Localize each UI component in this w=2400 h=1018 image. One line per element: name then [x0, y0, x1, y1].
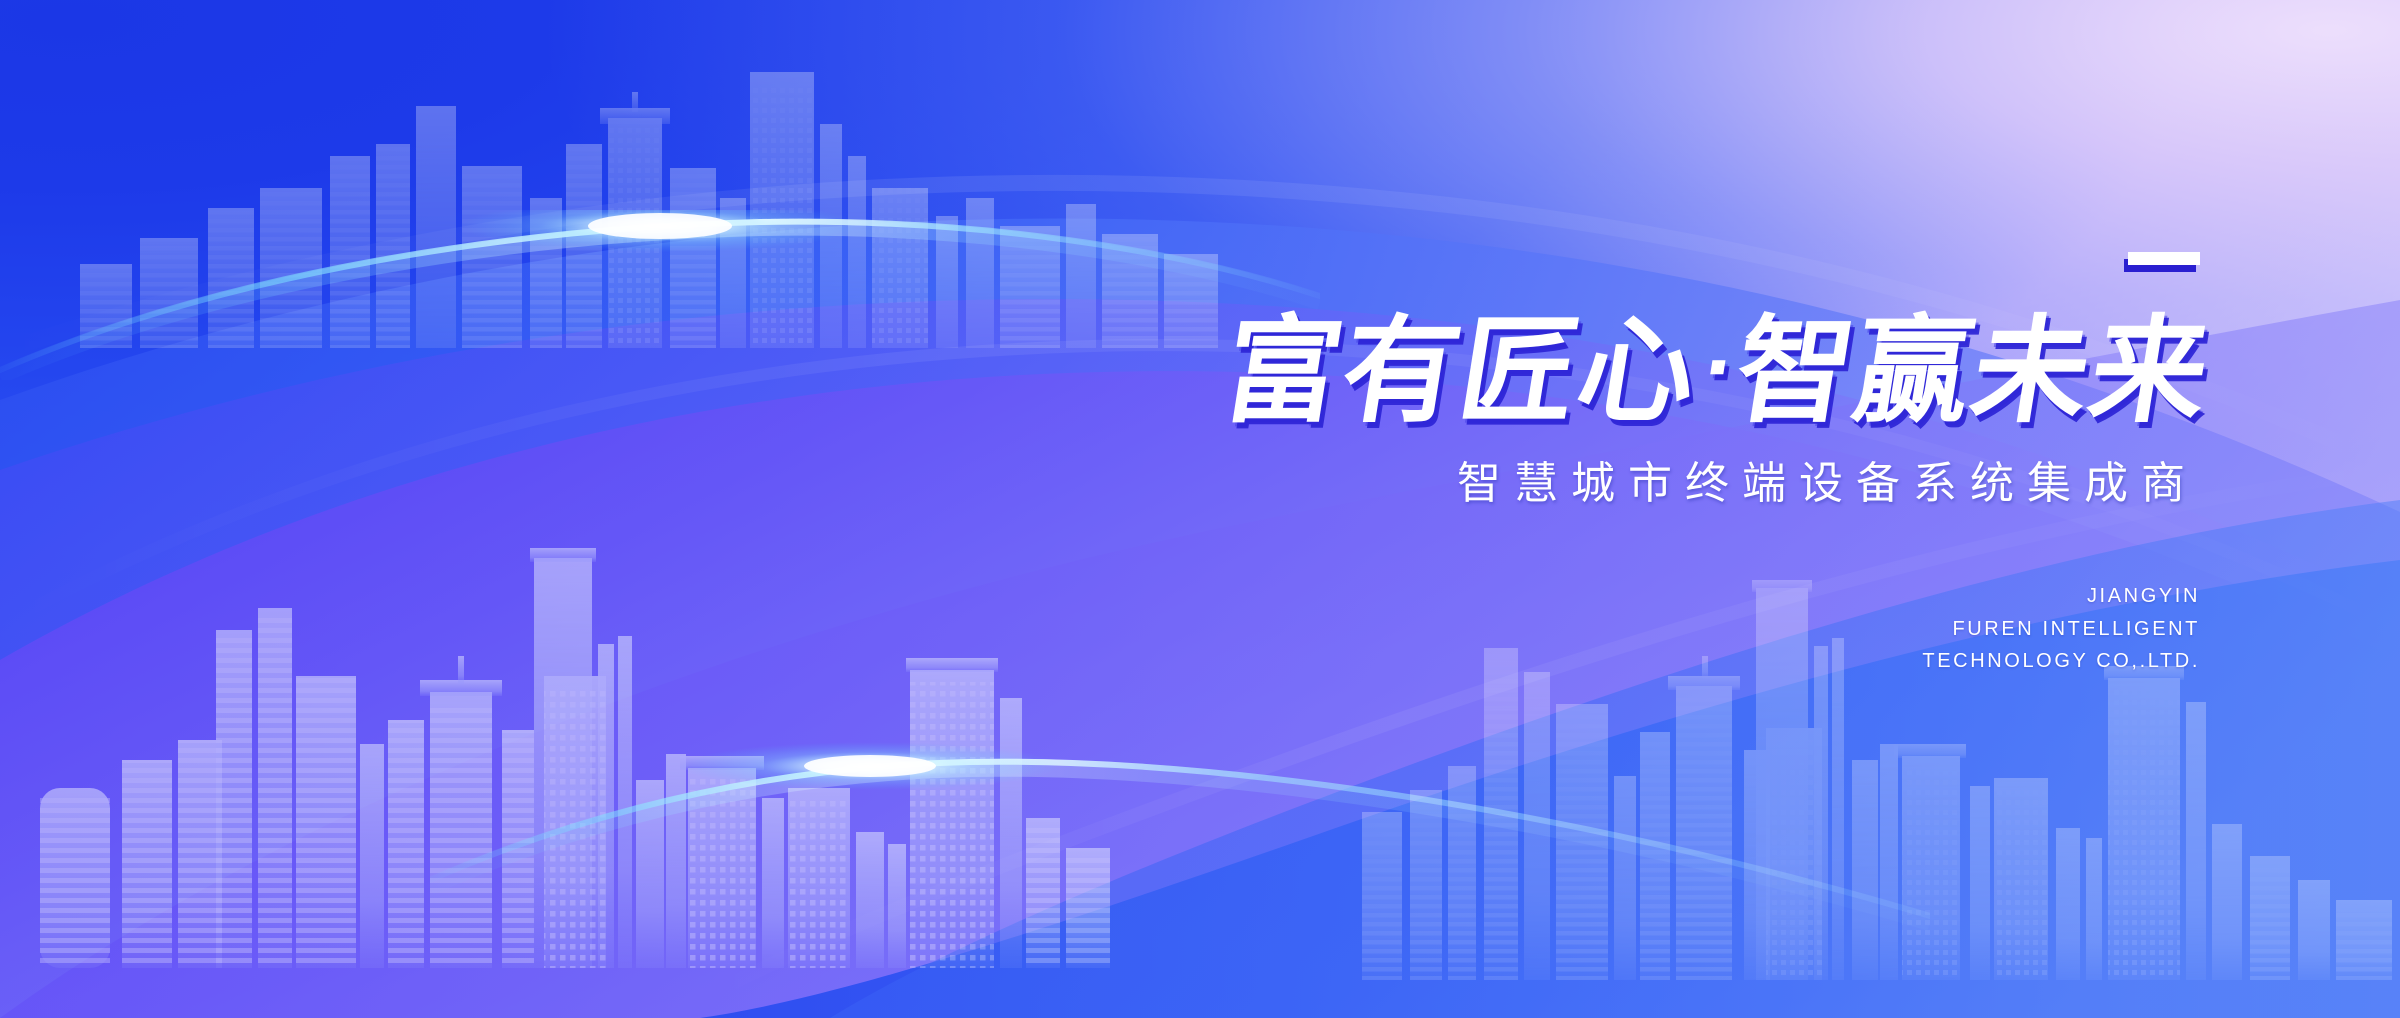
headline-left: 富有匠心 [1214, 304, 1707, 439]
company-line-1: JIANGYIN [940, 580, 2200, 612]
subtitle: 智慧城市终端设备系统集成商 [940, 460, 2200, 508]
page-title: 富有匠心·智赢未来 [940, 314, 2218, 430]
headline-right: 智赢未来 [1727, 304, 2220, 439]
company-line-3: TECHNOLOGY CO,.LTD. [940, 645, 2200, 677]
banner-copy: 富有匠心·智赢未来 智慧城市终端设备系统集成商 JIANGYIN FUREN I… [940, 252, 2200, 678]
accent-dash [2128, 252, 2200, 265]
company-name-en: JIANGYIN FUREN INTELLIGENT TECHNOLOGY CO… [940, 580, 2200, 677]
banner-stage: 富有匠心·智赢未来 智慧城市终端设备系统集成商 JIANGYIN FUREN I… [0, 0, 2400, 1018]
company-line-2: FUREN INTELLIGENT [940, 613, 2200, 645]
